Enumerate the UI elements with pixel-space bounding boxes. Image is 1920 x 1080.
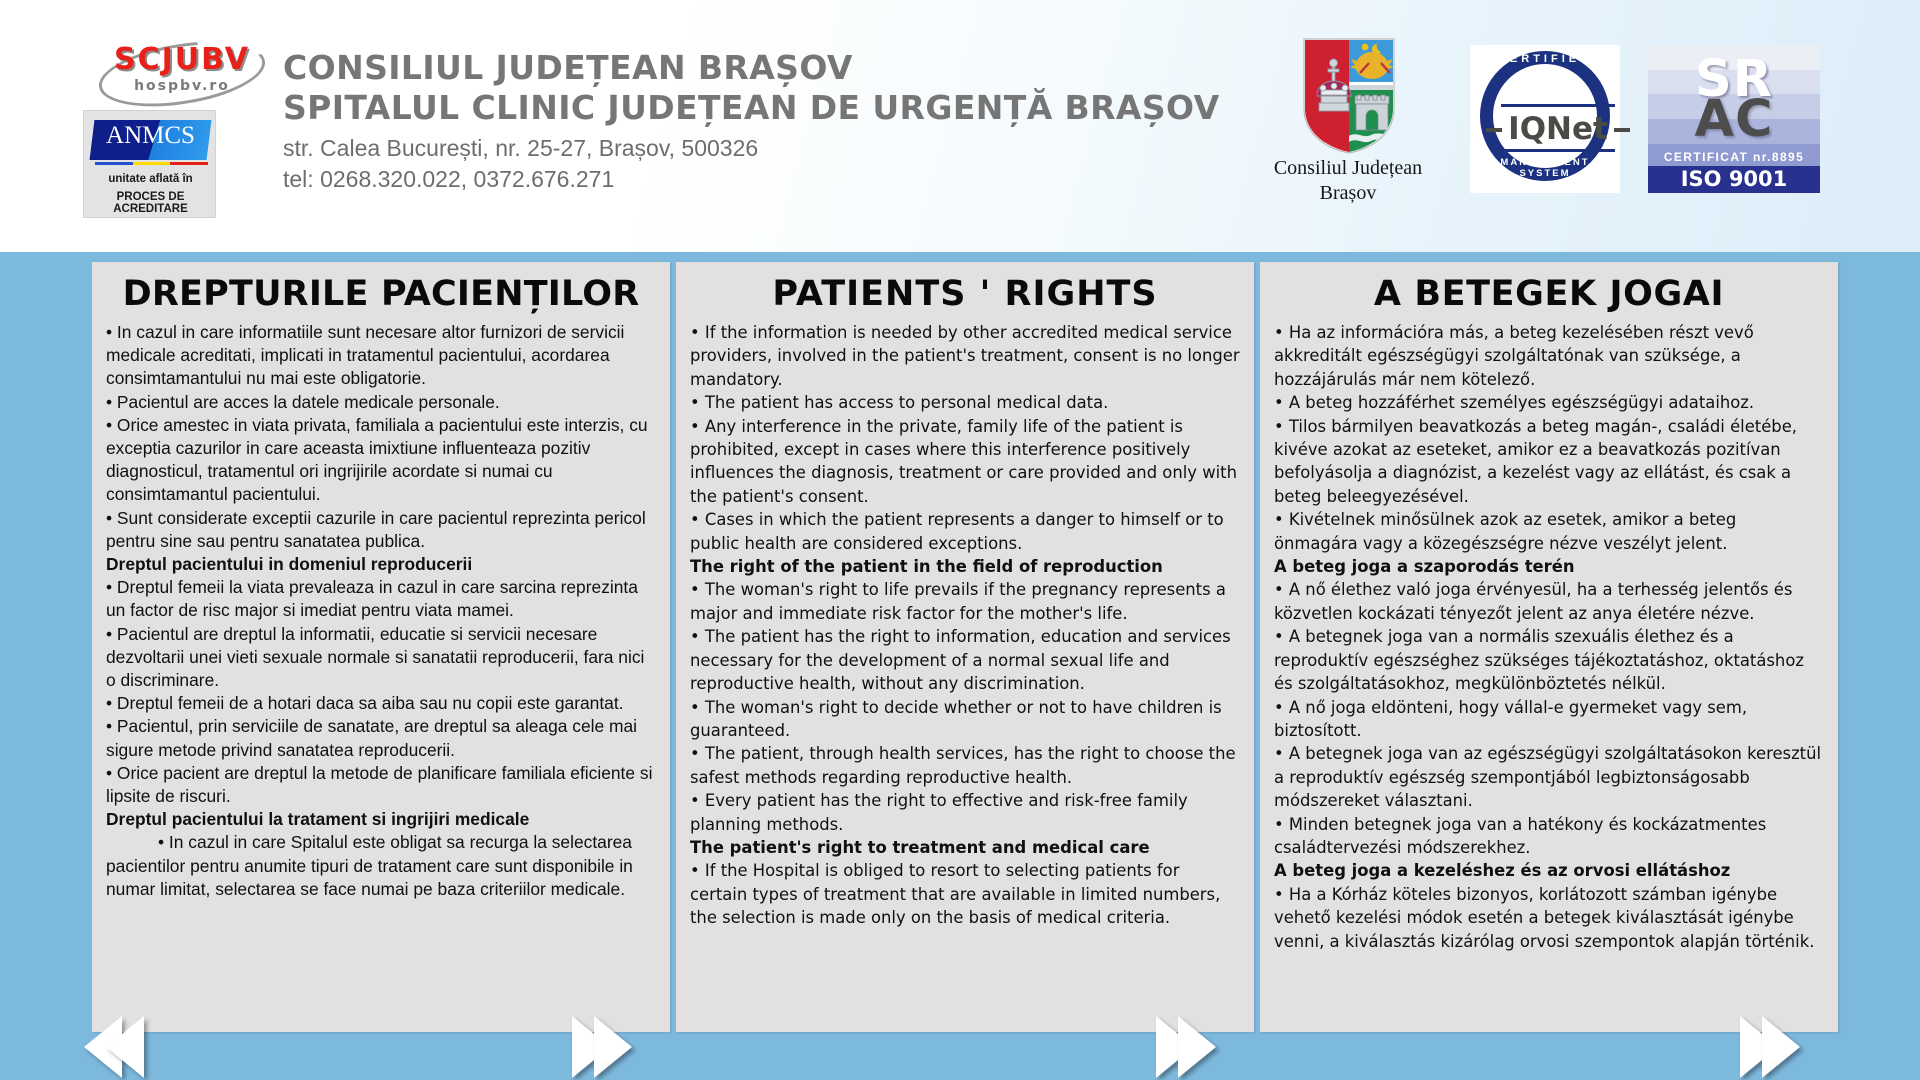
rights-item: • If the information is needed by other … (690, 321, 1240, 391)
rights-item: • Ha a Kórház köteles bizonyos, korlátoz… (1274, 883, 1824, 953)
page-header: SCJUBV hospbv.ro ANMCS unitate aflată în… (0, 0, 1920, 252)
hospital-title: SPITALUL CLINIC JUDEȚEAN DE URGENȚĂ BRAȘ… (283, 88, 1263, 128)
rights-item: • Sunt considerate exceptii cazurile in … (106, 507, 656, 553)
brasov-county-council-logo: Consiliul Județean Brașov (1248, 38, 1448, 208)
section-heading: The right of the patient in the field of… (690, 555, 1240, 578)
rights-item: • A nő joga eldönteni, hogy vállal-e gye… (1274, 696, 1824, 743)
column-body-romanian: • In cazul in care informatiile sunt nec… (106, 321, 656, 901)
iqnet-ring-shape: CERTIFIED MANAGEMENT SYSTEM IQNet (1480, 51, 1610, 181)
chevron-left-icon[interactable] (106, 1016, 144, 1078)
iqnet-ring-bottom-text: MANAGEMENT SYSTEM (1493, 157, 1597, 179)
chevron-right-icon[interactable] (1178, 1016, 1216, 1078)
iqnet-right-bar (1614, 128, 1630, 132)
column-title-romanian: DREPTURILE PACIENȚILOR (106, 270, 656, 318)
rights-item: • Pacientul are acces la datele medicale… (106, 391, 656, 414)
county-council-title: CONSILIUL JUDEȚEAN BRAȘOV (283, 48, 1263, 88)
anmcs-acronym-text: ANMCS (92, 122, 209, 154)
rights-item: • Dreptul femeii de a hotari daca sa aib… (106, 692, 656, 715)
rights-item: • A nő élethez való joga érvényesül, ha … (1274, 578, 1824, 625)
rights-item: • Orice amestec in viata privata, famili… (106, 414, 656, 507)
iqnet-ring-top-text: CERTIFIED (1493, 53, 1597, 65)
rights-item: • The woman's right to decide whether or… (690, 696, 1240, 743)
srac-certificate-number: CERTIFICAT nr.8895 (1648, 150, 1820, 164)
rights-item: • Every patient has the right to effecti… (690, 789, 1240, 836)
institution-titles: CONSILIUL JUDEȚEAN BRAȘOV SPITALUL CLINI… (283, 48, 1263, 195)
column-body-hungarian: • Ha az információra más, a beteg kezelé… (1274, 321, 1824, 953)
rights-item: • Any interference in the private, famil… (690, 415, 1240, 509)
patient-rights-board: DREPTURILE PACIENȚILOR • In cazul in car… (0, 252, 1920, 1080)
romanian-flag-rule (95, 162, 208, 165)
rights-item: • Cases in which the patient represents … (690, 508, 1240, 555)
scjubv-acronym-text: SCJUBV (100, 42, 264, 77)
iqnet-certification-logo: CERTIFIED MANAGEMENT SYSTEM IQNet (1470, 45, 1620, 193)
hospital-phone: tel: 0268.320.022, 0372.676.271 (283, 164, 1263, 195)
section-heading: Dreptul pacientului in domeniul reproduc… (106, 553, 656, 576)
scjubv-hospital-logo: SCJUBV hospbv.ro (92, 38, 272, 110)
section-heading: Dreptul pacientului la tratament si ingr… (106, 808, 656, 831)
column-hungarian: A BETEGEK JOGAI • Ha az információra más… (1260, 262, 1838, 1032)
column-romanian: DREPTURILE PACIENȚILOR • In cazul in car… (92, 262, 670, 1032)
column-body-english: • If the information is needed by other … (690, 321, 1240, 930)
chevron-right-icon[interactable] (1762, 1016, 1800, 1078)
rights-item: • A betegnek joga van a normális szexuál… (1274, 625, 1824, 695)
iqnet-left-bar (1486, 128, 1502, 132)
rights-item: • Orice pacient are dreptul la metode de… (106, 762, 656, 808)
section-heading: A beteg joga a kezeléshez és az orvosi e… (1274, 859, 1824, 882)
iqnet-wordmark: IQNet (1501, 111, 1615, 147)
rights-item: • The patient has access to personal med… (690, 391, 1240, 414)
rights-item: • If the Hospital is obliged to resort t… (690, 859, 1240, 929)
column-title-english: PATIENTS ' RIGHTS (690, 270, 1240, 318)
rights-item: • In cazul in care Spitalul este obligat… (106, 831, 656, 901)
anmcs-subtitle-line2: PROCES DE ACREDITARE (84, 191, 217, 215)
rights-item: • In cazul in care informatiile sunt nec… (106, 321, 656, 391)
cj-label-line2: Brașov (1248, 181, 1448, 206)
rights-item: • The patient has the right to informati… (690, 625, 1240, 695)
brasov-coat-of-arms-icon (1303, 38, 1395, 154)
rights-item: • The woman's right to life prevails if … (690, 578, 1240, 625)
srac-iso-standard: ISO 9001 (1648, 166, 1820, 193)
section-heading: A beteg joga a szaporodás terén (1274, 555, 1824, 578)
iqnet-core-block: IQNet (1501, 104, 1615, 152)
srac-wordmark-ac: AC (1648, 95, 1820, 145)
rights-item: • Kivételnek minősülnek azok az esetek, … (1274, 508, 1824, 555)
rights-item: • Ha az információra más, a beteg kezelé… (1274, 321, 1824, 391)
rights-item: • A beteg hozzáférhet személyes egészség… (1274, 391, 1824, 414)
hospital-address: str. Calea București, nr. 25-27, Brașov,… (283, 133, 1263, 164)
prev-navigation-arrows[interactable] (84, 1016, 144, 1078)
chevron-right-icon[interactable] (594, 1016, 632, 1078)
rights-item: • A betegnek joga van az egészségügyi sz… (1274, 742, 1824, 812)
anmcs-accreditation-logo: ANMCS unitate aflată în PROCES DE ACREDI… (83, 110, 216, 218)
srac-iso-certification-logo: SR AC CERTIFICAT nr.8895 ISO 9001 (1648, 45, 1820, 193)
scjubv-website-text: hospbv.ro (100, 78, 264, 94)
rights-item: • Dreptul femeii la viata prevaleaza in … (106, 576, 656, 622)
section-heading: The patient's right to treatment and med… (690, 836, 1240, 859)
rights-item: • Minden betegnek joga van a hatékony és… (1274, 813, 1824, 860)
rights-item: • Pacientul, prin serviciile de sanatate… (106, 715, 656, 761)
next-navigation-arrows-3[interactable] (1740, 1016, 1800, 1078)
cj-label-line1: Consiliul Județean (1248, 156, 1448, 181)
rights-item: • The patient, through health services, … (690, 742, 1240, 789)
rights-item: • Pacientul are dreptul la informatii, e… (106, 623, 656, 693)
rights-item: • Tilos bármilyen beavatkozás a beteg ma… (1274, 415, 1824, 509)
next-navigation-arrows-2[interactable] (1156, 1016, 1216, 1078)
anmcs-subtitle-line1: unitate aflată în (84, 173, 217, 185)
column-english: PATIENTS ' RIGHTS • If the information i… (676, 262, 1254, 1032)
column-title-hungarian: A BETEGEK JOGAI (1274, 270, 1824, 318)
next-navigation-arrows-1[interactable] (572, 1016, 632, 1078)
